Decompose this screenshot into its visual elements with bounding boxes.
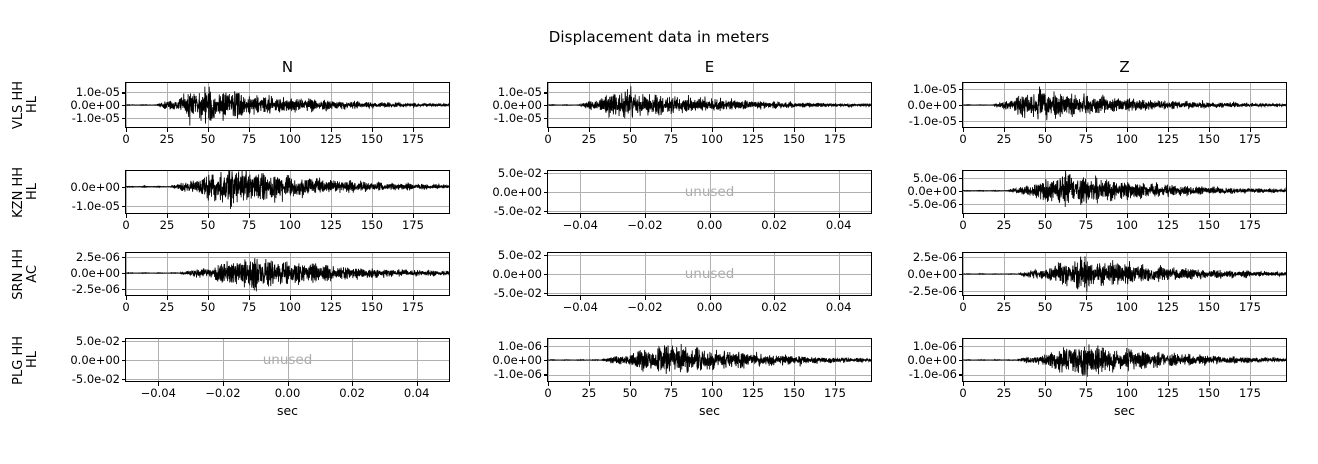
y-tick-mark (544, 211, 548, 212)
x-tick-label: 75 (1079, 386, 1094, 400)
x-tick-mark (126, 296, 127, 300)
y-tick-label: -1.0e-05 (72, 111, 120, 125)
x-tick-mark (126, 128, 127, 132)
x-tick-label: 0 (959, 386, 966, 400)
x-tick-label: 150 (1198, 218, 1220, 232)
x-tick-mark (580, 296, 581, 300)
y-tick-label: -5.0e-06 (909, 197, 957, 211)
subplot-hl-kzn-hh-n[interactable]: 0.0e+00-1.0e-050255075100125150175 (125, 170, 450, 214)
waveform-trace (548, 83, 871, 127)
x-tick-mark (835, 382, 836, 386)
y-tick-mark (959, 291, 963, 292)
y-tick-label: 0.0e+00 (70, 353, 120, 367)
y-tick-label: 0.0e+00 (492, 185, 542, 199)
gridline-horizontal (126, 341, 449, 342)
y-tick-mark (544, 293, 548, 294)
y-tick-mark (959, 191, 963, 192)
row-label-station: SRN HH (12, 249, 25, 300)
x-tick-mark (1127, 296, 1128, 300)
axes-area (962, 82, 1287, 128)
axes-area (962, 252, 1287, 296)
y-tick-mark (122, 118, 126, 119)
x-tick-label: 150 (1198, 132, 1220, 146)
y-tick-mark (122, 92, 126, 93)
y-tick-label: 0.0e+00 (907, 98, 957, 112)
x-tick-label: 25 (582, 132, 597, 146)
x-tick-label: 50 (201, 132, 216, 146)
y-tick-mark (122, 360, 126, 361)
y-tick-mark (122, 257, 126, 258)
x-tick-mark (413, 214, 414, 218)
y-tick-mark (544, 274, 548, 275)
gridline-horizontal (548, 173, 871, 174)
waveform-trace (963, 83, 1286, 127)
x-tick-mark (839, 214, 840, 218)
x-tick-mark (753, 128, 754, 132)
subplot-ac-srn-hh-n[interactable]: 2.5e-060.0e+00-2.5e-06025507510012515017… (125, 252, 450, 296)
x-tick-label: 75 (1079, 218, 1094, 232)
y-tick-label: 2.5e-06 (913, 250, 957, 264)
y-tick-mark (959, 105, 963, 106)
x-tick-label: 50 (1038, 386, 1053, 400)
x-tick-mark (774, 214, 775, 218)
y-tick-label: -1.0e-05 (494, 111, 542, 125)
waveform-trace (548, 339, 871, 381)
y-tick-mark (959, 121, 963, 122)
y-tick-mark (544, 118, 548, 119)
x-tick-mark (1168, 128, 1169, 132)
x-tick-label: −0.04 (563, 300, 598, 314)
x-tick-mark (794, 128, 795, 132)
x-tick-mark (372, 214, 373, 218)
x-tick-mark (1045, 296, 1046, 300)
x-tick-mark (1086, 382, 1087, 386)
x-tick-label: 150 (783, 386, 805, 400)
x-tick-mark (1209, 128, 1210, 132)
x-tick-label: 75 (242, 132, 257, 146)
x-tick-label: −0.02 (627, 300, 662, 314)
x-tick-label: 125 (742, 386, 764, 400)
x-tick-label: 125 (320, 300, 342, 314)
x-tick-label: 50 (623, 132, 638, 146)
x-tick-label: 0.00 (275, 386, 301, 400)
x-tick-mark (290, 128, 291, 132)
x-tick-mark (208, 128, 209, 132)
x-tick-mark (249, 214, 250, 218)
x-tick-label: 50 (1038, 132, 1053, 146)
x-tick-label: −0.04 (141, 386, 176, 400)
x-tick-label: 25 (997, 386, 1012, 400)
y-tick-mark (544, 173, 548, 174)
x-tick-mark (1250, 214, 1251, 218)
x-tick-mark (1250, 382, 1251, 386)
axes-area: unused (547, 170, 872, 214)
unused-placeholder-text: unused (685, 266, 735, 282)
x-tick-label: 0 (959, 218, 966, 232)
waveform-trace (126, 253, 449, 295)
x-tick-mark (290, 296, 291, 300)
x-tick-mark (167, 128, 168, 132)
x-tick-label: 0 (544, 132, 551, 146)
y-tick-mark (122, 273, 126, 274)
waveform-trace (963, 171, 1286, 213)
gridline-horizontal (126, 379, 449, 380)
x-tick-mark (331, 128, 332, 132)
x-tick-mark (288, 382, 289, 386)
y-tick-mark (544, 92, 548, 93)
y-tick-label: 0.0e+00 (70, 180, 120, 194)
x-tick-mark (413, 128, 414, 132)
row-label-srn: ACSRN HH (8, 252, 42, 296)
x-tick-mark (1250, 128, 1251, 132)
x-tick-label: 100 (279, 300, 301, 314)
x-tick-mark (417, 382, 418, 386)
gridline-horizontal (548, 211, 871, 212)
axes-area (125, 252, 450, 296)
y-tick-label: 0.0e+00 (907, 184, 957, 198)
x-tick-mark (710, 296, 711, 300)
y-tick-mark (122, 105, 126, 106)
x-tick-label: 150 (361, 218, 383, 232)
x-tick-mark (167, 296, 168, 300)
column-title-e: E (547, 58, 872, 76)
gridline-horizontal (548, 255, 871, 256)
x-tick-mark (548, 128, 549, 132)
x-tick-mark (249, 128, 250, 132)
x-tick-label: 25 (997, 132, 1012, 146)
x-tick-mark (1209, 296, 1210, 300)
x-tick-label: 125 (320, 218, 342, 232)
x-tick-mark (1250, 296, 1251, 300)
subplot-hl-plg-hh-e[interactable]: 1.0e-060.0e+00-1.0e-06025507510012515017… (547, 338, 872, 382)
subplot-ac-srn-hh-e[interactable]: unused5.0e-020.0e+00-5.0e-02−0.04−0.020.… (547, 252, 872, 296)
x-tick-mark (671, 382, 672, 386)
x-tick-mark (963, 214, 964, 218)
x-tick-label: 100 (1116, 386, 1138, 400)
axes-area (962, 338, 1287, 382)
x-tick-mark (630, 128, 631, 132)
x-tick-mark (1127, 214, 1128, 218)
x-tick-label: 100 (1116, 132, 1138, 146)
row-label-station: VLS HH (12, 81, 25, 129)
x-tick-mark (963, 128, 964, 132)
y-tick-label: 0.0e+00 (907, 353, 957, 367)
x-tick-label: 125 (1157, 386, 1179, 400)
x-tick-label: 25 (997, 300, 1012, 314)
x-tick-mark (630, 382, 631, 386)
row-label-network: HL (26, 183, 39, 200)
x-tick-mark (352, 382, 353, 386)
y-tick-label: 5.0e-02 (76, 334, 120, 348)
y-tick-label: -1.0e-05 (72, 199, 120, 213)
row-label-network: AC (26, 265, 39, 283)
gridline-horizontal (548, 293, 871, 294)
y-tick-mark (959, 204, 963, 205)
y-tick-label: 0.0e+00 (907, 267, 957, 281)
x-tick-mark (712, 128, 713, 132)
row-label-vls: HLVLS HH (8, 82, 42, 128)
y-tick-label: 1.0e-05 (913, 82, 957, 96)
x-tick-mark (1045, 382, 1046, 386)
x-tick-label: 125 (742, 132, 764, 146)
x-tick-mark (1127, 382, 1128, 386)
subplot-hl-kzn-hh-z[interactable]: 5.0e-060.0e+00-5.0e-06025507510012515017… (962, 170, 1287, 214)
x-tick-label: 0 (959, 300, 966, 314)
axes-area (547, 82, 872, 128)
x-tick-mark (671, 128, 672, 132)
x-tick-label: 50 (1038, 218, 1053, 232)
y-tick-label: 2.5e-06 (76, 250, 120, 264)
x-tick-label: 125 (1157, 300, 1179, 314)
x-tick-label: 75 (1079, 132, 1094, 146)
x-tick-label: 175 (402, 132, 424, 146)
row-label-plg: HLPLG HH (8, 338, 42, 382)
x-tick-mark (167, 214, 168, 218)
x-tick-label: 0.04 (826, 300, 852, 314)
x-tick-label: 100 (279, 218, 301, 232)
x-tick-label: 100 (701, 386, 723, 400)
y-tick-label: 0.0e+00 (492, 267, 542, 281)
x-tick-mark (774, 296, 775, 300)
x-tick-label: 0 (122, 300, 129, 314)
y-tick-label: -5.0e-02 (72, 372, 120, 386)
x-tick-label: 0.00 (697, 218, 723, 232)
y-tick-mark (544, 255, 548, 256)
x-tick-label: 175 (824, 132, 846, 146)
y-tick-mark (544, 346, 548, 347)
y-tick-mark (959, 89, 963, 90)
subplot-hl-kzn-hh-e[interactable]: unused5.0e-020.0e+00-5.0e-02−0.04−0.020.… (547, 170, 872, 214)
x-tick-mark (1004, 214, 1005, 218)
x-tick-mark (331, 214, 332, 218)
x-axis-label: sec (547, 403, 872, 418)
y-tick-label: -5.0e-02 (494, 286, 542, 300)
y-tick-mark (959, 274, 963, 275)
x-tick-label: 75 (664, 132, 679, 146)
x-tick-mark (413, 296, 414, 300)
x-tick-mark (1045, 128, 1046, 132)
x-tick-label: 0 (544, 386, 551, 400)
x-axis-label: sec (962, 403, 1287, 418)
x-tick-mark (753, 382, 754, 386)
x-tick-label: 50 (1038, 300, 1053, 314)
x-tick-mark (1045, 214, 1046, 218)
x-tick-label: 0.02 (339, 386, 365, 400)
y-tick-mark (544, 192, 548, 193)
axes-area (547, 338, 872, 382)
x-tick-label: 100 (279, 132, 301, 146)
x-tick-mark (794, 382, 795, 386)
x-tick-label: 100 (1116, 300, 1138, 314)
row-label-station: KZN HH (12, 167, 25, 218)
x-tick-mark (645, 296, 646, 300)
x-tick-mark (1209, 214, 1210, 218)
axes-area (125, 82, 450, 128)
x-tick-label: 0.04 (826, 218, 852, 232)
y-tick-mark (122, 289, 126, 290)
x-tick-label: 75 (242, 218, 257, 232)
axes-area (962, 170, 1287, 214)
x-tick-label: 0 (959, 132, 966, 146)
y-tick-mark (959, 374, 963, 375)
x-tick-label: 0 (122, 132, 129, 146)
axes-area: unused (547, 252, 872, 296)
x-tick-label: −0.02 (205, 386, 240, 400)
x-tick-mark (1086, 296, 1087, 300)
x-tick-label: 125 (320, 132, 342, 146)
y-tick-mark (959, 178, 963, 179)
x-tick-mark (1086, 128, 1087, 132)
x-tick-label: 0.00 (697, 300, 723, 314)
y-tick-mark (122, 206, 126, 207)
y-tick-mark (544, 105, 548, 106)
x-tick-mark (1168, 382, 1169, 386)
x-tick-label: 0.02 (761, 300, 787, 314)
subplot-ac-srn-hh-z[interactable]: 2.5e-060.0e+00-2.5e-06025507510012515017… (962, 252, 1287, 296)
unused-placeholder-text: unused (263, 352, 313, 368)
y-tick-label: -1.0e-05 (909, 114, 957, 128)
y-tick-label: -5.0e-02 (494, 204, 542, 218)
x-axis-label: sec (125, 403, 450, 418)
x-tick-label: 175 (402, 218, 424, 232)
x-tick-mark (1209, 382, 1210, 386)
x-tick-label: 125 (1157, 218, 1179, 232)
x-tick-label: 50 (201, 300, 216, 314)
subplot-hl-vls-hh-z[interactable]: 1.0e-050.0e+00-1.0e-05025507510012515017… (962, 82, 1287, 128)
column-title-z: Z (962, 58, 1287, 76)
x-tick-mark (249, 296, 250, 300)
x-tick-label: 25 (160, 132, 175, 146)
x-tick-mark (580, 214, 581, 218)
x-tick-label: 150 (783, 132, 805, 146)
y-tick-label: 0.0e+00 (492, 353, 542, 367)
x-tick-mark (710, 214, 711, 218)
x-tick-label: 150 (361, 300, 383, 314)
x-tick-mark (372, 296, 373, 300)
y-tick-mark (959, 257, 963, 258)
y-tick-mark (544, 374, 548, 375)
x-tick-label: 150 (361, 132, 383, 146)
x-tick-mark (1168, 296, 1169, 300)
x-tick-label: 75 (1079, 300, 1094, 314)
y-tick-mark (959, 346, 963, 347)
waveform-trace (963, 339, 1286, 381)
x-tick-mark (1168, 214, 1169, 218)
x-tick-label: 50 (623, 386, 638, 400)
x-tick-label: 0.04 (404, 386, 430, 400)
y-tick-label: 5.0e-06 (913, 171, 957, 185)
x-tick-label: 100 (701, 132, 723, 146)
x-tick-mark (589, 382, 590, 386)
x-tick-mark (835, 128, 836, 132)
x-tick-mark (712, 382, 713, 386)
x-tick-mark (126, 214, 127, 218)
x-tick-label: 175 (824, 386, 846, 400)
x-tick-label: 0 (122, 218, 129, 232)
subplot-hl-plg-hh-z[interactable]: 1.0e-060.0e+00-1.0e-06025507510012515017… (962, 338, 1287, 382)
x-tick-label: 75 (664, 386, 679, 400)
column-title-n: N (125, 58, 450, 76)
x-tick-label: 25 (997, 218, 1012, 232)
x-tick-label: 25 (160, 300, 175, 314)
x-tick-mark (208, 296, 209, 300)
x-tick-mark (1086, 214, 1087, 218)
row-label-network: HL (26, 96, 39, 113)
x-tick-mark (1127, 128, 1128, 132)
x-tick-mark (372, 128, 373, 132)
x-tick-mark (158, 382, 159, 386)
x-tick-label: 175 (1239, 386, 1261, 400)
y-tick-mark (122, 341, 126, 342)
y-tick-label: -1.0e-06 (494, 367, 542, 381)
waveform-trace (126, 83, 449, 127)
x-tick-label: 75 (242, 300, 257, 314)
row-label-station: PLG HH (12, 336, 25, 385)
x-tick-mark (589, 128, 590, 132)
subplot-hl-plg-hh-n[interactable]: unused5.0e-020.0e+00-5.0e-02−0.04−0.020.… (125, 338, 450, 382)
waveform-trace (963, 253, 1286, 295)
y-tick-label: 0.0e+00 (70, 266, 120, 280)
y-tick-mark (122, 187, 126, 188)
unused-placeholder-text: unused (685, 184, 735, 200)
x-tick-label: 150 (1198, 386, 1220, 400)
y-tick-label: -2.5e-06 (909, 284, 957, 298)
x-tick-label: −0.02 (627, 218, 662, 232)
x-tick-mark (1004, 382, 1005, 386)
y-tick-label: -1.0e-06 (909, 367, 957, 381)
x-tick-label: 50 (201, 218, 216, 232)
row-label-network: HL (26, 351, 39, 368)
y-tick-mark (959, 360, 963, 361)
x-tick-label: 175 (1239, 218, 1261, 232)
x-tick-label: 100 (1116, 218, 1138, 232)
figure-title: Displacement data in meters (0, 28, 1318, 46)
x-tick-mark (1004, 128, 1005, 132)
x-tick-label: 25 (582, 386, 597, 400)
x-tick-label: 0.02 (761, 218, 787, 232)
x-tick-mark (963, 382, 964, 386)
y-tick-label: 5.0e-02 (498, 166, 542, 180)
subplot-hl-vls-hh-n[interactable]: 1.0e-050.0e+00-1.0e-05025507510012515017… (125, 82, 450, 128)
axes-area (125, 170, 450, 214)
x-tick-mark (645, 214, 646, 218)
x-tick-label: −0.04 (563, 218, 598, 232)
x-tick-mark (208, 214, 209, 218)
x-tick-mark (223, 382, 224, 386)
x-tick-mark (548, 382, 549, 386)
subplot-hl-vls-hh-e[interactable]: 1.0e-050.0e+00-1.0e-05025507510012515017… (547, 82, 872, 128)
x-tick-mark (1004, 296, 1005, 300)
x-tick-label: 175 (402, 300, 424, 314)
x-tick-label: 175 (1239, 132, 1261, 146)
figure-canvas: Displacement data in meters NEZHLVLS HHH… (0, 0, 1318, 464)
y-tick-mark (122, 379, 126, 380)
x-tick-mark (290, 214, 291, 218)
axes-area: unused (125, 338, 450, 382)
x-tick-mark (963, 296, 964, 300)
y-tick-label: -2.5e-06 (72, 282, 120, 296)
y-tick-mark (544, 360, 548, 361)
x-tick-label: 175 (1239, 300, 1261, 314)
x-tick-label: 25 (160, 218, 175, 232)
x-tick-label: 125 (1157, 132, 1179, 146)
y-tick-label: 1.0e-06 (913, 339, 957, 353)
waveform-trace (126, 171, 449, 213)
y-tick-label: 5.0e-02 (498, 248, 542, 262)
x-tick-mark (331, 296, 332, 300)
y-tick-label: 1.0e-06 (498, 339, 542, 353)
x-tick-label: 150 (1198, 300, 1220, 314)
